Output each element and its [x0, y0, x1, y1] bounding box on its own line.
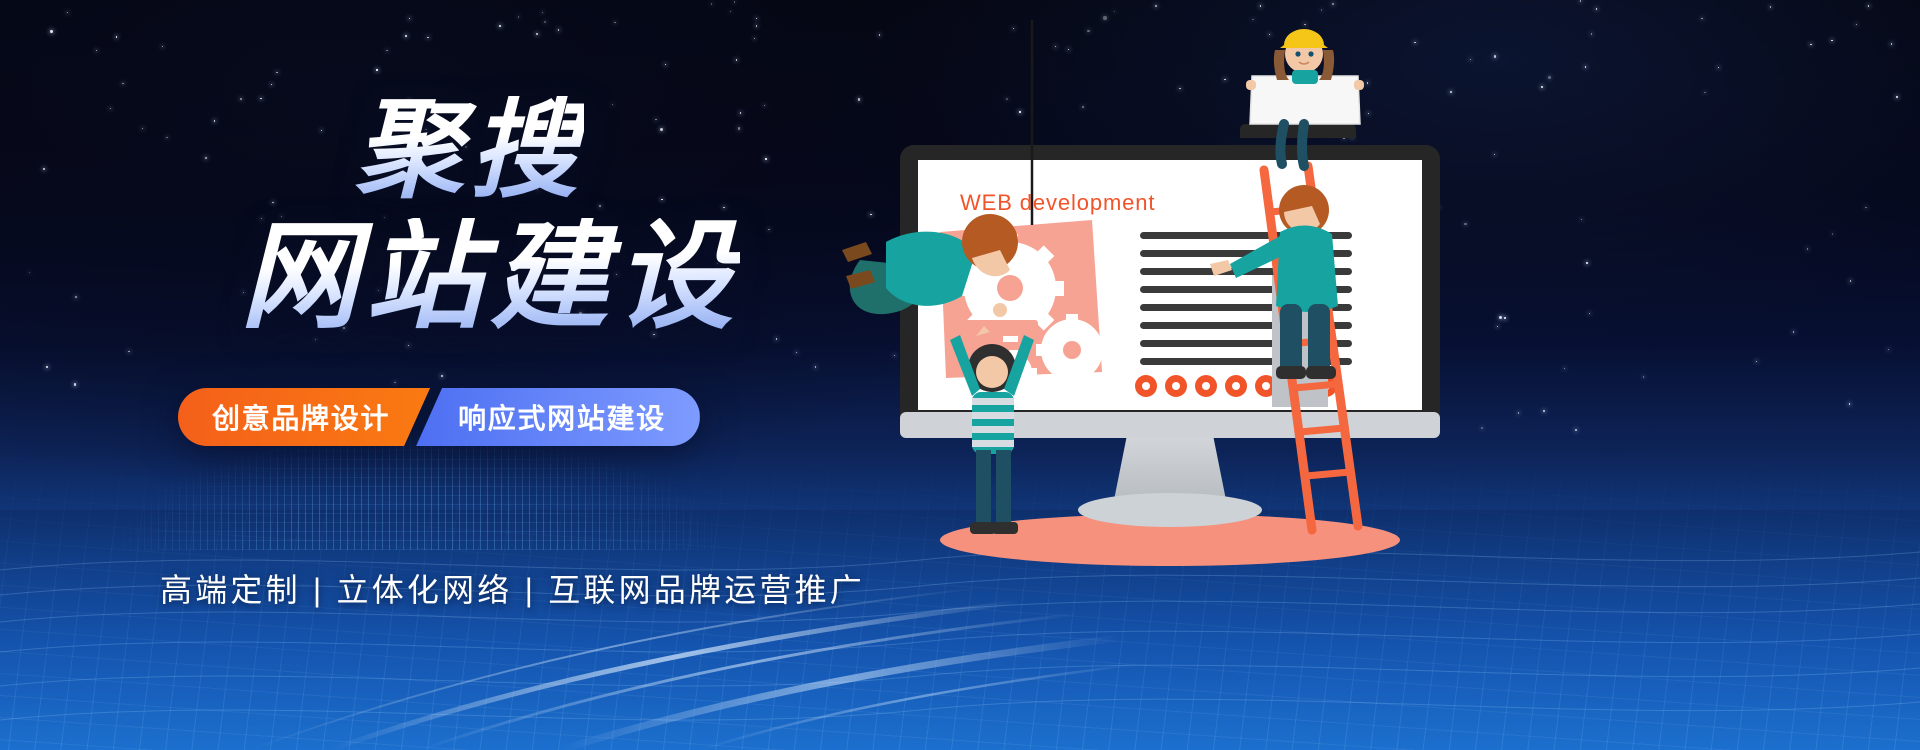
illustration-svg: WEB development [880, 20, 1440, 600]
star-dot [1541, 86, 1542, 87]
pill-label: 响应式网站建设 [458, 397, 666, 437]
star-dot [1770, 6, 1771, 7]
star-dot [1494, 55, 1496, 57]
pill-label: 创意品牌设计 [212, 397, 390, 437]
star-dot [1850, 280, 1851, 281]
tagline: 高端定制 | 立体化网络 | 互联网品牌运营推广 [160, 565, 865, 611]
pill-creative-brand-design[interactable]: 创意品牌设计 [178, 388, 430, 446]
star-dot [1591, 33, 1592, 34]
star-dot [1888, 349, 1889, 350]
feature-pill-group: 创意品牌设计 响应式网站建设 [178, 388, 700, 446]
star-dot [1155, 5, 1156, 6]
monitor-stand-base [1078, 493, 1262, 527]
star-dot [1704, 92, 1705, 93]
star-dot [1450, 91, 1451, 92]
star-dot [1543, 410, 1544, 411]
screen-title: WEB development [960, 190, 1155, 215]
star-dot [1548, 76, 1551, 79]
star-dot [1494, 154, 1495, 155]
star-dot [1718, 67, 1719, 68]
brand-title: 聚搜 [355, 96, 584, 204]
star-dot [1580, 0, 1581, 1]
star-dot [1643, 376, 1644, 377]
star-dot [1586, 262, 1588, 264]
star-dot [1596, 8, 1597, 9]
gear-large-hub [997, 275, 1023, 301]
star-dot [1564, 368, 1565, 369]
star-dot [1470, 59, 1471, 60]
star-dot [1321, 9, 1322, 10]
star-dot [1332, 3, 1333, 4]
star-dot [1589, 313, 1590, 314]
star-dot [1868, 5, 1869, 6]
hero-banner: 聚搜 网站建设 创意品牌设计 响应式网站建设 高端定制 | 立体化网络 | 互联… [0, 0, 1920, 750]
star-dot [1114, 11, 1115, 12]
monitor-illustration: WEB development [880, 20, 1440, 600]
star-dot [1581, 219, 1582, 220]
page-title: 网站建设 [240, 218, 740, 336]
star-dot [1849, 403, 1850, 404]
star-dot [1896, 96, 1897, 97]
star-dot [1891, 43, 1892, 44]
headline-block: 聚搜 网站建设 创意品牌设计 响应式网站建设 高端定制 | 立体化网络 | 互联… [0, 0, 900, 750]
star-dot [1756, 361, 1757, 362]
gear-medium-hub [1063, 341, 1081, 359]
star-dot [1497, 326, 1498, 327]
star-dot [1585, 66, 1586, 67]
star-dot [1701, 18, 1702, 19]
star-dot [1831, 40, 1832, 41]
star-dot [1504, 317, 1505, 318]
star-dot [1464, 223, 1466, 225]
star-dot [1807, 248, 1808, 249]
pill-responsive-website[interactable]: 响应式网站建设 [416, 388, 700, 446]
star-dot [1518, 412, 1519, 413]
star-dot [1856, 24, 1857, 25]
star-dot [1865, 207, 1866, 208]
star-dot [1810, 44, 1811, 45]
star-dot [1793, 331, 1794, 332]
hard-hat-icon [1280, 29, 1328, 48]
star-dot [1260, 5, 1261, 6]
star-dot [1832, 233, 1833, 234]
star-dot [1499, 316, 1502, 319]
